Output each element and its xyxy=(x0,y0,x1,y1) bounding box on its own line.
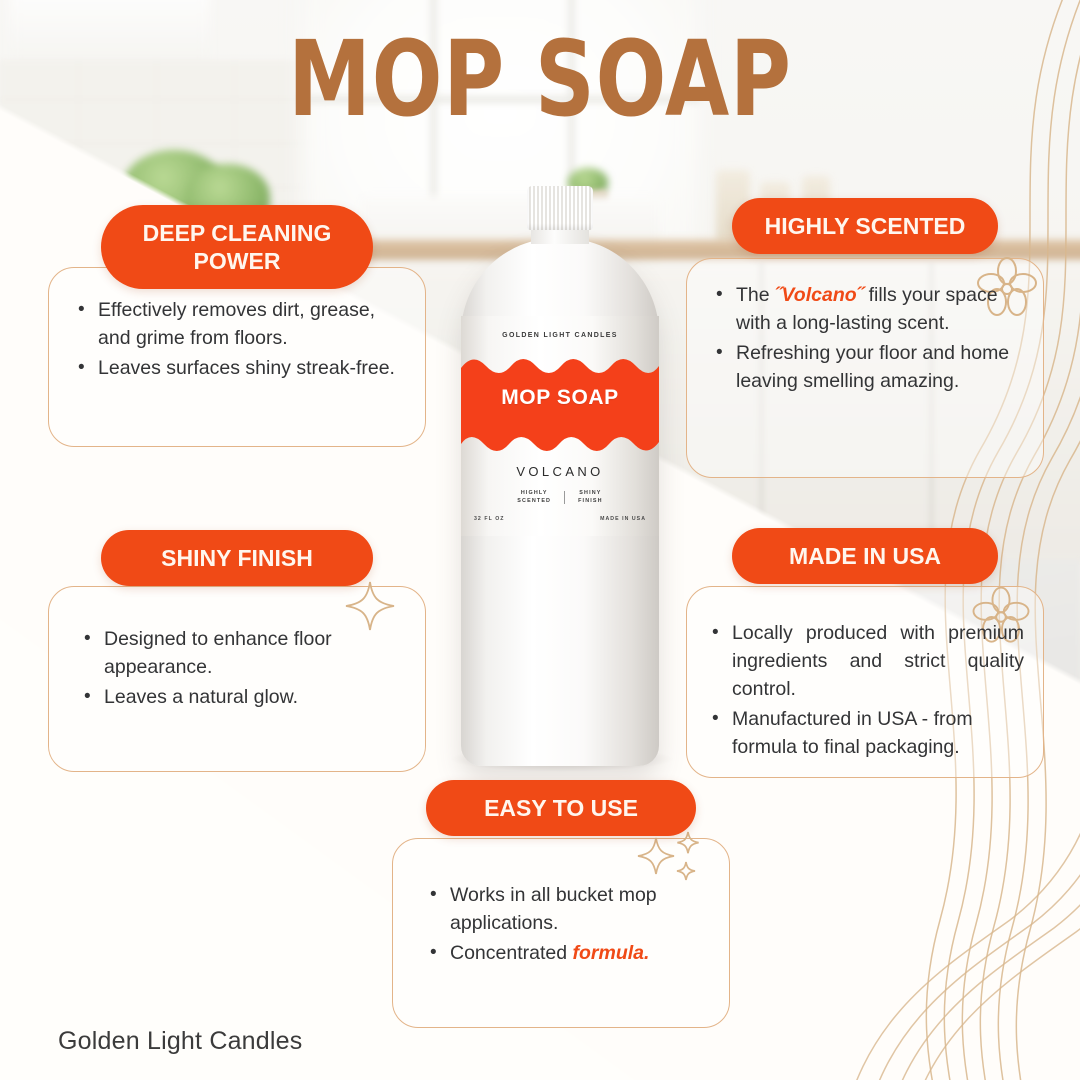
list-item: The ˝Volcano˝ fills your space with a lo… xyxy=(712,282,1022,338)
label-footer: 32 FL OZ MADE IN USA xyxy=(474,516,646,522)
card-title-easy-to-use: EASY TO USE xyxy=(426,780,696,836)
brand-footer: Golden Light Candles xyxy=(58,1027,302,1056)
card-title-made-in-usa: MADE IN USA xyxy=(732,528,998,584)
list-item: Works in all bucket mop applications. xyxy=(426,882,706,938)
label-attr-right-2: FINISH xyxy=(578,497,603,505)
list-item: Refreshing your floor and home leaving s… xyxy=(712,340,1022,396)
feature-card-made-in-usa: MADE IN USA Locally produced with premiu… xyxy=(686,528,1044,778)
feature-card-easy-to-use: EASY TO USE Works in all bucket mop appl… xyxy=(392,780,730,1028)
card-bullets: Locally produced with premium ingredient… xyxy=(708,620,1024,763)
list-item: Effectively removes dirt, grease, and gr… xyxy=(74,297,402,353)
list-item: Manufactured in USA - from formula to fi… xyxy=(708,706,1024,762)
label-product-name: MOP SOAP xyxy=(461,386,659,410)
list-item: Locally produced with premium ingredient… xyxy=(708,620,1024,704)
list-item: Leaves a natural glow. xyxy=(80,684,402,712)
bullet-text-pre: Concentrated xyxy=(450,942,573,964)
feature-card-highly-scented: HIGHLY SCENTED The ˝Volcano˝ fills your … xyxy=(686,198,1044,478)
bullet-highlight: formula. xyxy=(573,942,650,964)
label-attr-right-1: SHINY xyxy=(578,489,603,497)
label-attributes: HIGHLY SCENTED SHINY FINISH xyxy=(461,489,659,506)
label-brand: GOLDEN LIGHT CANDLES xyxy=(461,332,659,339)
card-bullets: Effectively removes dirt, grease, and gr… xyxy=(74,297,402,385)
list-item: Designed to enhance floor appearance. xyxy=(80,626,402,682)
label-scent-name: VOLCANO xyxy=(461,464,659,479)
bullet-text-pre: The xyxy=(736,284,775,306)
card-title-deep-cleaning-power: DEEP CLEANING POWER xyxy=(101,205,373,289)
card-bullets: Designed to enhance floor appearance. Le… xyxy=(80,626,402,714)
infographic-canvas: MOP SOAP GOLDEN LIGHT CANDLES MOP SOAP V… xyxy=(0,0,1080,1080)
bottle-cap xyxy=(527,186,593,230)
list-item: Concentrated formula. xyxy=(426,940,706,968)
label-attr-divider xyxy=(564,491,565,504)
page-title: MOP SOAP xyxy=(108,24,972,134)
card-bullets: The ˝Volcano˝ fills your space with a lo… xyxy=(712,282,1022,398)
bottle-label: GOLDEN LIGHT CANDLES MOP SOAP VOLCANO HI… xyxy=(461,316,659,536)
label-attr-left-1: HIGHLY xyxy=(517,489,551,497)
bullet-highlight: ˝Volcano˝ xyxy=(775,284,863,306)
label-origin: MADE IN USA xyxy=(600,516,646,522)
feature-card-shiny-finish: SHINY FINISH Designed to enhance floor a… xyxy=(48,530,426,772)
card-bullets: Works in all bucket mop applications. Co… xyxy=(426,882,706,970)
card-title-highly-scented: HIGHLY SCENTED xyxy=(732,198,998,254)
list-item: Leaves surfaces shiny streak-free. xyxy=(74,355,402,383)
label-attr-left-2: SCENTED xyxy=(517,497,551,505)
product-bottle-image: GOLDEN LIGHT CANDLES MOP SOAP VOLCANO HI… xyxy=(455,186,665,766)
card-title-shiny-finish: SHINY FINISH xyxy=(101,530,373,586)
feature-card-deep-cleaning-power: DEEP CLEANING POWER Effectively removes … xyxy=(48,205,426,447)
label-volume: 32 FL OZ xyxy=(474,516,505,522)
